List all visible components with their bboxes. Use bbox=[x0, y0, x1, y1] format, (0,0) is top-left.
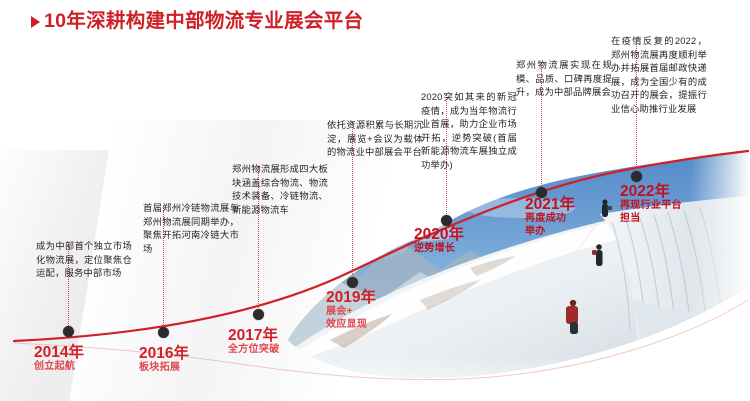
milestone-subtitle-2020: 逆势增长 bbox=[414, 243, 464, 256]
milestone-description-2017: 郑州物流展形成四大板块涵盖综合物流、物流技术装备、冷链物流、新能源物流车 bbox=[232, 163, 328, 217]
milestone-year-2014: 2014年 bbox=[34, 344, 84, 361]
timeline-node-2019[interactable] bbox=[347, 277, 358, 288]
milestone-description-2014: 成为中部首个独立市场化物流展，定位聚焦仓运配，服务中部市场 bbox=[36, 240, 132, 281]
milestone-label-2017[interactable]: 2017年 全方位突破 bbox=[228, 327, 280, 357]
milestone-subtitle-2016: 板块拓展 bbox=[139, 362, 189, 375]
milestone-label-2022[interactable]: 2022年 再现行业平台 担当 bbox=[620, 183, 682, 225]
milestone-label-2020[interactable]: 2020年 逆势增长 bbox=[414, 226, 464, 256]
page-title: 10年深耕构建中部物流专业展会平台 bbox=[31, 12, 363, 32]
milestone-year-2017: 2017年 bbox=[228, 327, 280, 344]
timeline-node-2016[interactable] bbox=[158, 327, 169, 338]
milestone-description-2019: 依托资源积累与长期沉淀，展览+会议为载体的物流业中部展会平台 bbox=[327, 119, 423, 160]
page-title-text: 10年深耕构建中部物流专业展会平台 bbox=[44, 12, 363, 32]
milestone-year-2021: 2021年 bbox=[525, 196, 575, 213]
timeline-node-2014[interactable] bbox=[63, 326, 74, 337]
milestone-subtitle-2022: 再现行业平台 担当 bbox=[620, 200, 682, 225]
milestone-year-2022: 2022年 bbox=[620, 183, 682, 200]
milestone-description-2021: 郑州物流展实现在规模、品质、口碑再度提升，成为中部品牌展会 bbox=[516, 59, 612, 100]
timeline-node-2020[interactable] bbox=[441, 215, 452, 226]
milestone-label-2014[interactable]: 2014年 创立起航 bbox=[34, 344, 84, 374]
milestone-subtitle-2017: 全方位突破 bbox=[228, 344, 280, 357]
milestone-year-2020: 2020年 bbox=[414, 226, 464, 243]
right-triangle-icon bbox=[31, 16, 40, 28]
mountain-photo bbox=[280, 140, 750, 400]
milestone-subtitle-2021: 再度成功 举办 bbox=[525, 213, 575, 238]
milestone-description-2016: 首届郑州冷链物流展与郑州物流展同期举办，聚焦开拓河南冷链大市场 bbox=[143, 202, 239, 256]
milestone-subtitle-2014: 创立起航 bbox=[34, 361, 84, 374]
milestone-year-2016: 2016年 bbox=[139, 345, 189, 362]
milestone-label-2016[interactable]: 2016年 板块拓展 bbox=[139, 345, 189, 375]
milestone-description-2022: 在疫情反复的2022，郑州物流展再度顺利举办并拓展首届邮政快递展，成为全国少有的… bbox=[611, 35, 707, 117]
milestone-description-2020: 2020突如其来的新冠疫情，成为当年物流行业首展，助力企业市场开拓，逆势突破(首… bbox=[421, 91, 517, 173]
milestone-label-2019[interactable]: 2019年 展会+ 效应显现 bbox=[326, 289, 376, 331]
milestone-label-2021[interactable]: 2021年 再度成功 举办 bbox=[525, 196, 575, 238]
milestone-year-2019: 2019年 bbox=[326, 289, 376, 306]
infographic-canvas: 10年深耕构建中部物流专业展会平台 成为中部首个独立市场化物流展，定位聚焦仓运配… bbox=[0, 0, 750, 401]
timeline-node-2022[interactable] bbox=[631, 171, 642, 182]
timeline-node-2017[interactable] bbox=[253, 309, 264, 320]
milestone-subtitle-2019: 展会+ 效应显现 bbox=[326, 306, 376, 331]
